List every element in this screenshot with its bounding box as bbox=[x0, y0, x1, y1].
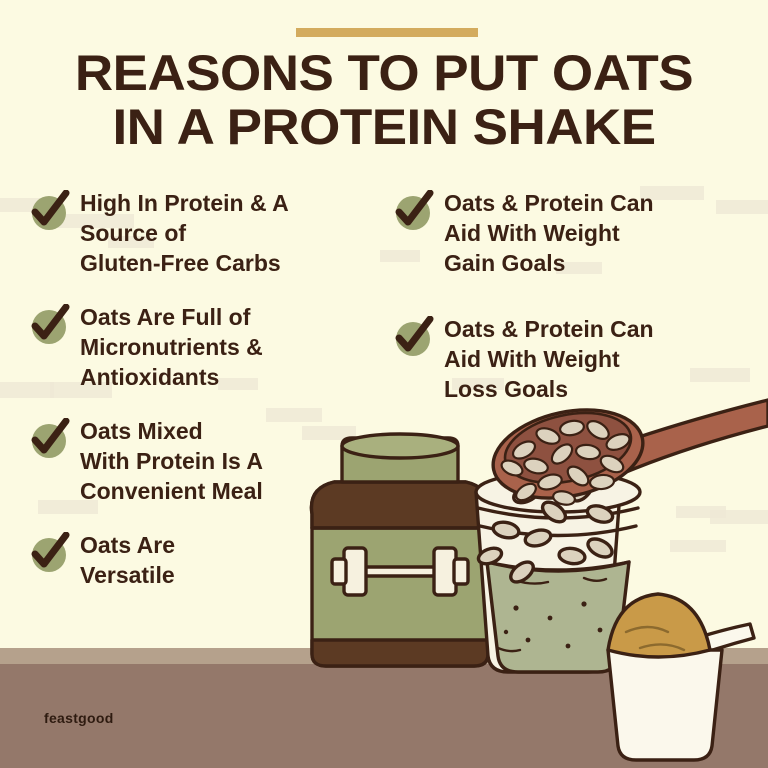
oats-protein-shake-illustration bbox=[300, 396, 768, 768]
infographic-poster: REASONS TO PUT OATS IN A PROTEIN SHAKE H… bbox=[0, 0, 768, 768]
benefit-text: Oats Mixed With Protein Is A Convenient … bbox=[80, 414, 263, 506]
benefit-text: Oats & Protein Can Aid With Weight Loss … bbox=[444, 312, 654, 404]
checkmark-icon bbox=[28, 190, 72, 230]
protein-tub bbox=[311, 434, 488, 666]
benefit-item: Oats & Protein Can Aid With Weight Loss … bbox=[392, 312, 762, 404]
benefits-column-right: Oats & Protein Can Aid With Weight Gain … bbox=[392, 186, 762, 426]
accent-bar bbox=[296, 28, 478, 37]
benefit-text: High In Protein & A Source of Gluten-Fre… bbox=[80, 186, 289, 278]
checkmark-icon bbox=[28, 532, 72, 572]
benefit-item: High In Protein & A Source of Gluten-Fre… bbox=[28, 186, 388, 278]
brand-logo: feastgood bbox=[44, 710, 114, 726]
checkmark-icon bbox=[28, 418, 72, 458]
benefit-item: Oats Are Full of Micronutrients & Antiox… bbox=[28, 300, 388, 392]
benefit-text: Oats Are Full of Micronutrients & Antiox… bbox=[80, 300, 263, 392]
benefit-item: Oats & Protein Can Aid With Weight Gain … bbox=[392, 186, 762, 278]
benefit-text: Oats Are Versatile bbox=[80, 528, 175, 590]
checkmark-icon bbox=[28, 304, 72, 344]
page-title: REASONS TO PUT OATS IN A PROTEIN SHAKE bbox=[0, 46, 768, 154]
protein-scoop bbox=[608, 594, 754, 760]
benefit-text: Oats & Protein Can Aid With Weight Gain … bbox=[444, 186, 654, 278]
checkmark-icon bbox=[392, 316, 436, 356]
checkmark-icon bbox=[392, 190, 436, 230]
